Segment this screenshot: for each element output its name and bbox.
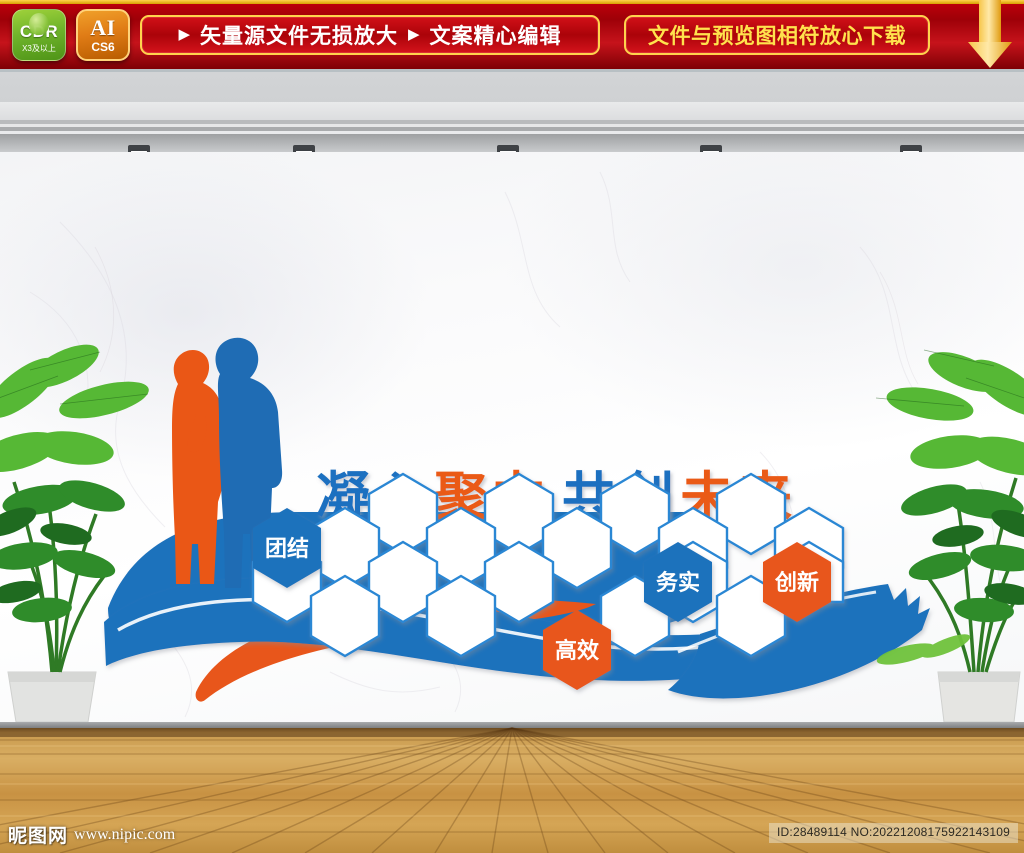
corel-balloon-icon [29, 13, 49, 35]
promo-feature-text-1: 矢量源文件无损放大 [200, 20, 398, 50]
asset-id-label: ID:28489114 NO:20221208175922143109 [769, 823, 1018, 843]
potted-plant-right [875, 344, 1024, 722]
svg-text:务实: 务实 [656, 570, 700, 596]
ai-badge-title: AI [90, 17, 115, 39]
promo-download-pill: 文件与预览图相符放心下载 [624, 15, 930, 55]
room-scene: 凝心 聚力 共创 未来 [0, 72, 1024, 853]
promo-banner: CDR X3及以上 AI CS6 ▶ 矢量源文件无损放大 ▶ 文案精心编辑 文件… [0, 0, 1024, 72]
triangle-marker-icon: ▶ [178, 27, 190, 42]
triangle-marker-icon-2: ▶ [408, 27, 420, 42]
potted-plant-left [0, 336, 152, 722]
nipic-brand-cn: 昵图网 [8, 821, 68, 848]
cdr-badge-sub: X3及以上 [22, 43, 56, 54]
culture-wall-graphic: 凝心 聚力 共创 未来 [0, 152, 1024, 722]
promo-feature-text-2: 文案精心编辑 [430, 20, 562, 50]
nipic-brand-url: www.nipic.com [74, 826, 175, 844]
svg-text:高效: 高效 [555, 638, 599, 664]
svg-text:创新: 创新 [774, 570, 819, 596]
culture-wall-vector: 凝心 聚力 共创 未来 [0, 152, 1024, 722]
promo-feature-pill: ▶ 矢量源文件无损放大 ▶ 文案精心编辑 [140, 15, 600, 55]
cdr-badge: CDR X3及以上 [12, 9, 66, 61]
svg-text:团结: 团结 [265, 536, 309, 562]
ai-badge-sub: CS6 [91, 40, 114, 54]
down-arrow-icon [968, 0, 1012, 72]
footer-watermark: 昵图网 www.nipic.com ID:28489114 NO:2022120… [0, 815, 1024, 853]
promo-download-text: 文件与预览图相符放心下载 [648, 20, 906, 50]
ai-badge: AI CS6 [76, 9, 130, 61]
ceiling [0, 72, 1024, 152]
nipic-logo: 昵图网 www.nipic.com [8, 821, 175, 848]
screenshot-stage: CDR X3及以上 AI CS6 ▶ 矢量源文件无损放大 ▶ 文案精心编辑 文件… [0, 0, 1024, 853]
